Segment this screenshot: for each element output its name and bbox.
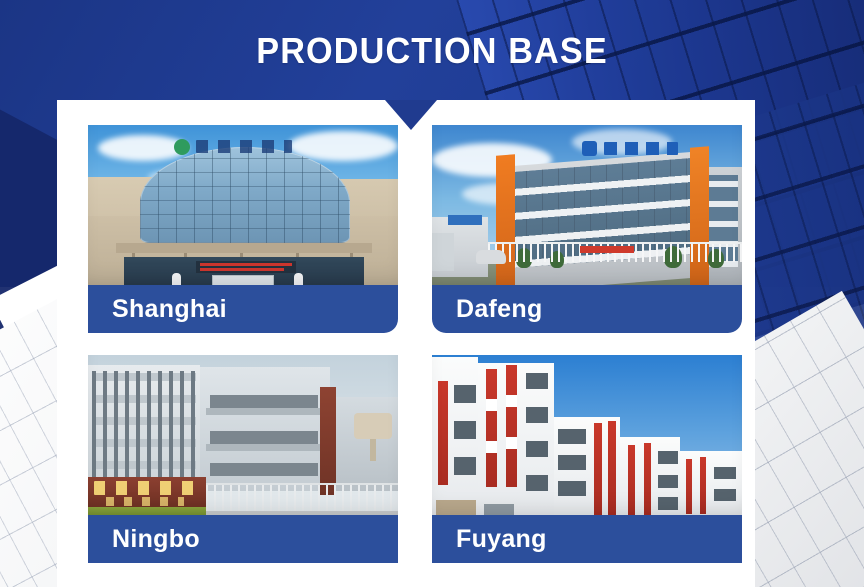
- production-base-grid: Shanghai: [88, 125, 742, 587]
- card-label-shanghai: Shanghai: [88, 285, 398, 333]
- photo-vignette: [88, 355, 398, 520]
- banner-header: PRODUCTION BASE: [0, 0, 864, 102]
- photo-shanghai: [88, 125, 398, 290]
- photo-dafeng: [432, 125, 742, 290]
- card-label-text: Fuyang: [432, 525, 547, 554]
- page-title: PRODUCTION BASE: [256, 30, 608, 72]
- photo-vignette: [432, 125, 742, 290]
- photo-fuyang: [432, 355, 742, 520]
- card-label-dafeng: Dafeng: [432, 285, 742, 333]
- card-ningbo[interactable]: Ningbo: [88, 355, 398, 563]
- production-base-banner: PRODUCTION BASE: [0, 0, 864, 587]
- card-fuyang[interactable]: Fuyang: [432, 355, 742, 563]
- card-label-fuyang: Fuyang: [432, 515, 742, 563]
- card-dafeng[interactable]: Dafeng: [432, 125, 742, 333]
- photo-vignette: [88, 125, 398, 290]
- card-label-text: Shanghai: [88, 295, 227, 324]
- card-label-ningbo: Ningbo: [88, 515, 398, 563]
- photo-ningbo: [88, 355, 398, 520]
- card-shanghai[interactable]: Shanghai: [88, 125, 398, 333]
- card-label-text: Ningbo: [88, 525, 200, 554]
- photo-vignette: [432, 355, 742, 520]
- card-label-text: Dafeng: [432, 295, 543, 324]
